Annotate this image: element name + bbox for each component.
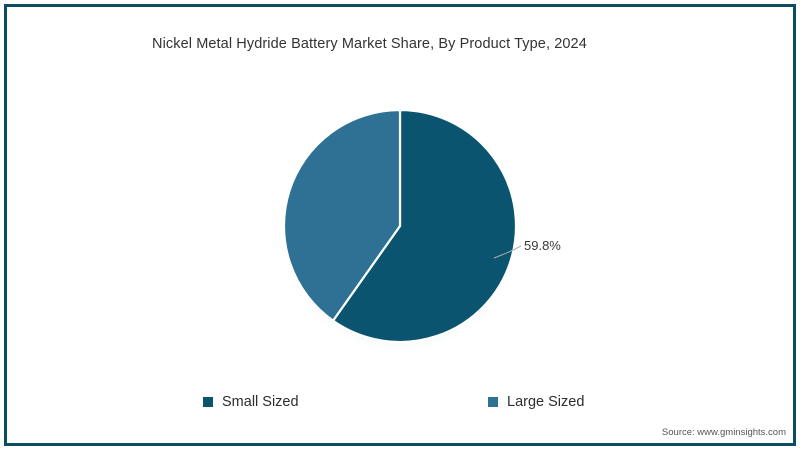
legend-swatch-icon	[203, 397, 213, 407]
legend-item-large-sized[interactable]: Large Sized	[488, 392, 584, 412]
legend-item-label: Large Sized	[507, 394, 584, 410]
pie-slice-percent-label: 59.8%	[524, 238, 561, 253]
pie-chart-svg	[0, 0, 800, 450]
pie-chart-area: 59.8%	[0, 0, 800, 450]
legend-item-small-sized[interactable]: Small Sized	[203, 392, 299, 412]
chart-legend: Small Sized Large Sized	[0, 392, 800, 414]
legend-swatch-icon	[488, 397, 498, 407]
legend-item-label: Small Sized	[222, 394, 299, 410]
chart-screenshot: Nickel Metal Hydride Battery Market Shar…	[0, 0, 800, 450]
source-attribution: Source: www.gminsights.com	[662, 427, 786, 438]
